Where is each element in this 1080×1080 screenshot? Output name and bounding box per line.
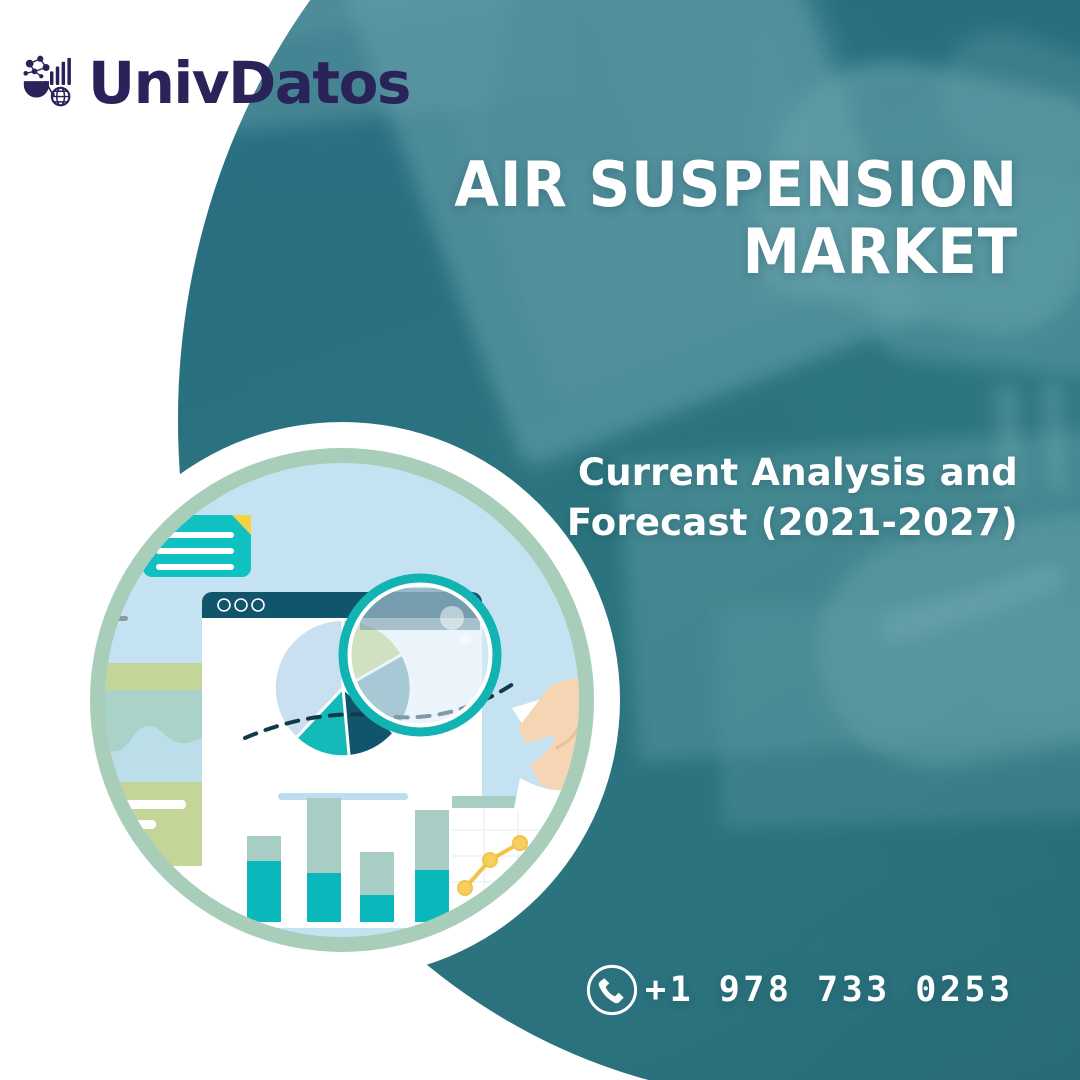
univdatos-logo-icon <box>18 52 80 114</box>
contact-phone[interactable]: +1 978 733 0253 <box>585 963 1014 1017</box>
brand-logo[interactable]: UnivDatos <box>18 52 410 114</box>
page-title: AIR SUSPENSION MARKET <box>441 152 1018 286</box>
brand-name: UnivDatos <box>88 54 410 112</box>
magnifier <box>343 578 497 732</box>
poster-canvas: UnivDatos AIR SUSPENSION MARKET Current … <box>0 0 1080 1080</box>
title-line-1: AIR SUSPENSION <box>441 152 1018 219</box>
phone-number: +1 978 733 0253 <box>645 970 1014 1010</box>
illustration-svg <box>60 418 624 982</box>
data-analysis-illustration <box>60 418 624 982</box>
title-line-2: MARKET <box>441 219 1018 286</box>
